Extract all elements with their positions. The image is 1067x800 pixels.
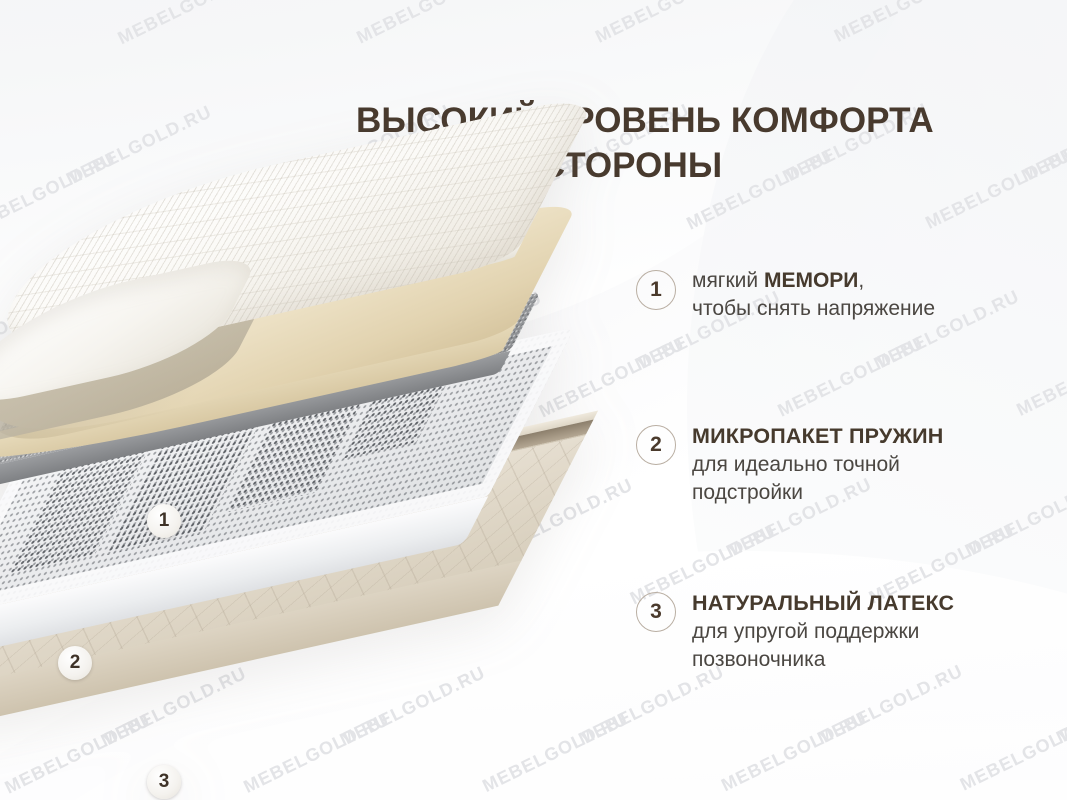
feature-item-memory: 1 мягкий МЕМОРИ, чтобы снять напряжение xyxy=(636,266,935,323)
watermark-text: MEBELGOLD.RU xyxy=(0,0,17,125)
feature-text-block: мягкий МЕМОРИ, чтобы снять напряжение xyxy=(692,266,935,323)
illustration-badge-3: 3 xyxy=(147,765,181,799)
watermark-text: MEBELGOLD.RU xyxy=(240,732,382,800)
feature-line-2: для идеально точной xyxy=(692,451,944,479)
feature-heading: НАТУРАЛЬНЫЙ ЛАТЕКС xyxy=(692,589,954,618)
feature-line-3: позвоночника xyxy=(692,646,954,674)
watermark-text: MEBELGOLD.RU xyxy=(718,730,860,800)
watermark-text: MEBELGOLD.RU xyxy=(957,730,1067,800)
feature-line-3: подстройки xyxy=(692,479,944,507)
feature-line-2: для упругой поддержки xyxy=(692,618,954,646)
feature-item-springs: 2 МИКРОПАКЕТ ПРУЖИН для идеально точной … xyxy=(636,421,944,506)
feature-line-2: чтобы снять напряжение xyxy=(692,295,935,323)
feature-suffix: , xyxy=(858,269,864,292)
watermark-text: MEBELGOLD.RU xyxy=(211,0,450,77)
feature-number-badge-3: 3 xyxy=(636,592,676,632)
watermark-text: MEBELGOLD.RU xyxy=(927,0,1067,74)
watermark-text: MEBELGOLD.RU xyxy=(0,0,211,78)
feature-item-latex: 3 НАТУРАЛЬНЫЙ ЛАТЕКС для упругой поддерж… xyxy=(636,588,954,673)
feature-text-block: НАТУРАЛЬНЫЙ ЛАТЕКС для упругой поддержки… xyxy=(692,588,954,673)
illustration-badge-1: 1 xyxy=(147,504,181,538)
watermark-text: MEBELGOLD.RU xyxy=(962,448,1067,636)
feature-number-badge-2: 2 xyxy=(636,425,676,465)
feature-number-badge-1: 1 xyxy=(636,270,676,310)
infographic-canvas: MEBELGOLD.RU MEBELGOLD.RU MEBELGOLD.RU M… xyxy=(0,0,1067,800)
watermark-text: MEBELGOLD.RU xyxy=(450,0,689,76)
watermark-text: MEBELGOLD.RU xyxy=(479,731,621,800)
feature-text-block: МИКРОПАКЕТ ПРУЖИН для идеально точной по… xyxy=(692,421,944,506)
watermark-text: MEBELGOLD.RU xyxy=(922,168,1064,308)
feature-line-1: мягкий МЕМОРИ, xyxy=(692,267,935,295)
feature-heading: МИКРОПАКЕТ ПРУЖИН xyxy=(692,422,944,451)
feature-prefix: мягкий xyxy=(692,269,764,292)
watermark-text: MEBELGOLD.RU xyxy=(115,0,257,124)
watermark-text: MEBELGOLD.RU xyxy=(1053,635,1067,800)
watermark-text: MEBELGOLD.RU xyxy=(688,0,927,75)
watermark-text: MEBELGOLD.RU xyxy=(1013,355,1067,495)
mattress-cutaway-illustration: 1 2 3 xyxy=(0,150,584,720)
illustration-badge-2: 2 xyxy=(58,646,92,680)
feature-keyword: МЕМОРИ xyxy=(764,269,858,292)
